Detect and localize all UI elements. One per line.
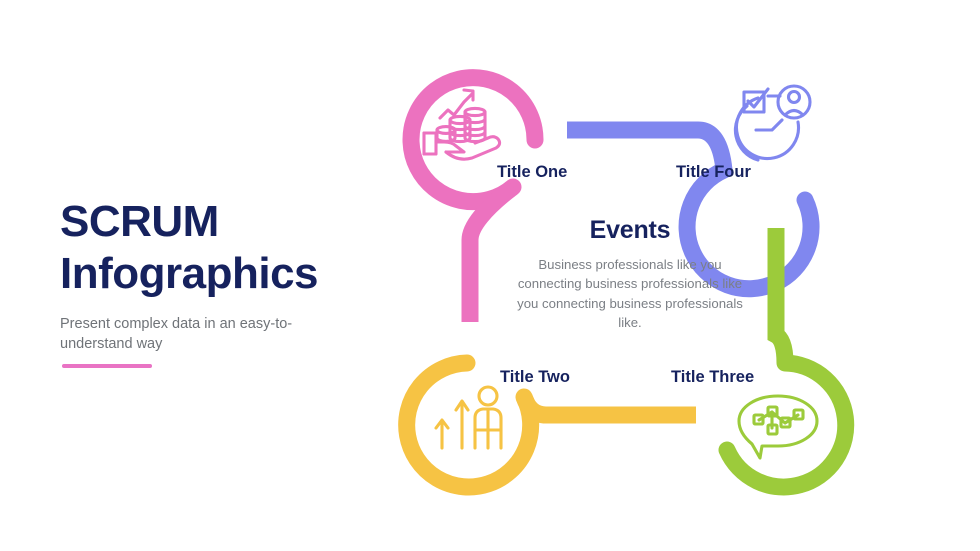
node-three-tail xyxy=(776,228,785,363)
center-body-text: Business professionals like you connecti… xyxy=(510,255,750,333)
node-label-four: Title Four xyxy=(676,163,751,182)
person-growth-arrows-icon xyxy=(436,387,501,448)
node-two-tail xyxy=(524,397,696,415)
center-text-block: Events Business professionals like you c… xyxy=(510,216,750,333)
node-label-three: Title Three xyxy=(671,368,754,387)
clock-checklist-person-icon xyxy=(735,86,810,160)
node-label-two: Title Two xyxy=(500,368,570,387)
speech-bubble-network-icon xyxy=(739,396,817,458)
center-heading: Events xyxy=(510,216,750,245)
accent-divider xyxy=(62,364,152,368)
page-subtitle: Present complex data in an easy-to-under… xyxy=(60,314,308,355)
infographic-slide: SCRUM Infographics Present complex data … xyxy=(0,0,980,551)
node-label-one: Title One xyxy=(497,163,567,182)
left-text-panel: SCRUM Infographics Present complex data … xyxy=(60,196,350,355)
page-title: SCRUM Infographics xyxy=(60,196,350,300)
